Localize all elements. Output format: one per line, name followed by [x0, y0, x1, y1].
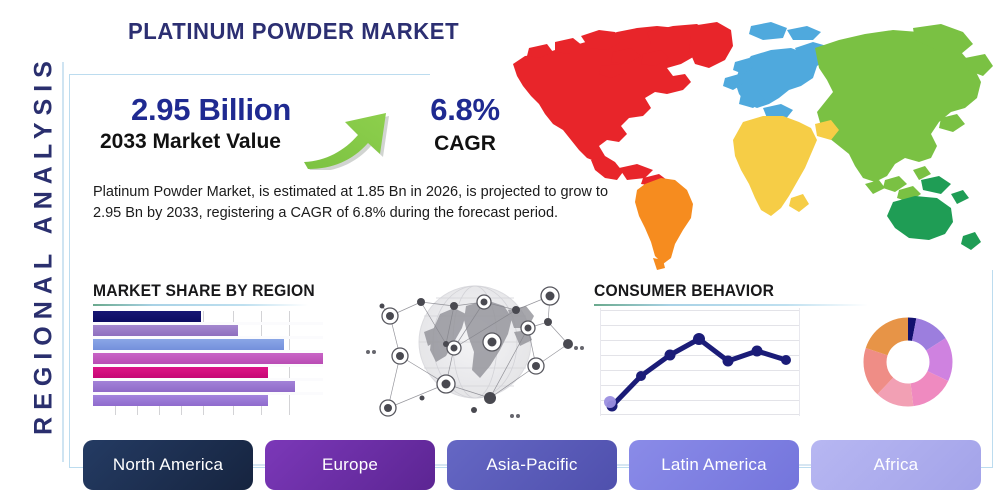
table-row — [93, 311, 201, 322]
region-button-label: North America — [113, 455, 223, 475]
region-button-europe[interactable]: Europe — [265, 440, 435, 490]
market-share-bar-chart — [93, 311, 323, 415]
section-underline — [93, 304, 308, 306]
section-header-consumer-behavior-label: CONSUMER BEHAVIOR — [594, 281, 846, 301]
page-title: PLATINUM POWDER MARKET — [128, 18, 459, 45]
table-row — [93, 381, 295, 392]
section-header-consumer-behavior: CONSUMER BEHAVIOR — [594, 281, 868, 306]
table-row — [93, 353, 323, 364]
region-button-africa[interactable]: Africa — [811, 440, 981, 490]
growth-arrow-up-icon — [300, 85, 410, 170]
region-button-north-america[interactable]: North America — [83, 440, 253, 490]
regional-analysis-side-label: REGIONAL ANALYSIS — [30, 35, 59, 455]
market-value-label: 2033 Market Value — [100, 130, 281, 154]
infographic-canvas: REGIONAL ANALYSIS PLATINUM POWDER MARKET… — [0, 0, 1000, 500]
table-row — [93, 367, 268, 378]
table-row — [93, 395, 268, 406]
consumer-behavior-line-chart — [600, 308, 800, 416]
global-network-people-icon — [362, 266, 588, 424]
section-header-market-share: MARKET SHARE BY REGION — [93, 281, 308, 306]
table-row — [93, 325, 238, 336]
market-value-number: 2.95 Billion — [131, 92, 291, 128]
section-header-market-share-label: MARKET SHARE BY REGION — [93, 281, 291, 301]
bar-chart-bars — [93, 311, 323, 415]
region-button-group: North America Europe Asia-Pacific Latin … — [83, 440, 963, 490]
region-button-latin-america[interactable]: Latin America — [629, 440, 799, 490]
world-map-icon — [495, 12, 995, 274]
region-button-label: Africa — [874, 455, 919, 475]
table-row — [93, 339, 284, 350]
region-button-asia-pacific[interactable]: Asia-Pacific — [447, 440, 617, 490]
consumer-behavior-donut-chart — [858, 312, 958, 412]
side-divider — [62, 62, 64, 462]
section-underline — [594, 304, 868, 306]
region-button-label: Latin America — [661, 455, 767, 475]
line-chart-series — [600, 308, 800, 416]
region-button-label: Asia-Pacific — [486, 455, 577, 475]
region-button-label: Europe — [322, 455, 378, 475]
